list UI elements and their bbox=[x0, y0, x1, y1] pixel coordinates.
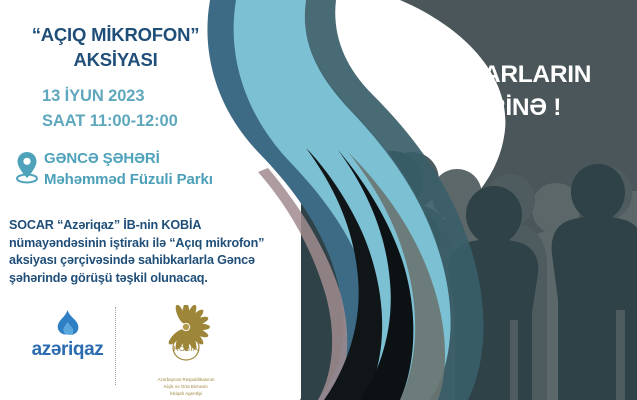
poster-canvas: “AÇIQ MİKROFON” AKSİYASI 13 İYUN 2023 SA… bbox=[0, 0, 637, 400]
poster-title: “AÇIQ MİKROFON” AKSİYASI bbox=[8, 22, 223, 72]
venue-text: GƏNCƏ ŞƏHƏRİ Məhəmməd Füzuli Parkı bbox=[44, 148, 213, 190]
event-datetime: 13 İYUN 2023 SAAT 11:00-12:00 bbox=[42, 84, 178, 134]
logo-divider bbox=[115, 307, 116, 385]
event-venue: GƏNCƏ ŞƏHƏRİ Məhəmməd Füzuli Parkı bbox=[14, 148, 213, 190]
headline-line-2: NƏZƏRİNƏ ! bbox=[357, 91, 625, 124]
logo-strip: azəriqaz bbox=[14, 305, 244, 393]
azeriqaz-logo: azəriqaz bbox=[20, 309, 115, 360]
left-content-column: “AÇIQ MİKROFON” AKSİYASI 13 İYUN 2023 SA… bbox=[0, 0, 330, 400]
title-line-1: “AÇIQ MİKROFON” bbox=[8, 22, 223, 47]
description-line-1: SOCAR “Azəriqaz” İB-nin KOBİA bbox=[9, 217, 241, 235]
event-date: 13 İYUN 2023 bbox=[42, 84, 178, 109]
event-time: SAAT 11:00-12:00 bbox=[42, 109, 178, 134]
description-line-2: nümayəndəsinin iştirakı ilə “Açıq mikrof… bbox=[9, 235, 241, 253]
description-line-3: aksiyası çərçivəsində sahibkarlarla Gənc… bbox=[9, 252, 241, 270]
kobia-caption-line-1: Azərbaycan Respublikasının bbox=[132, 377, 240, 383]
kobia-caption-line-2: Kiçik və Orta Biznesin bbox=[132, 384, 240, 390]
svg-text:KOBİA: KOBİA bbox=[174, 344, 199, 353]
title-line-2: AKSİYASI bbox=[8, 47, 223, 72]
venue-place: Məhəmməd Füzuli Parkı bbox=[44, 171, 213, 188]
venue-city: GƏNCƏ ŞƏHƏRİ bbox=[44, 150, 160, 167]
main-headline: SAHİBKARLARIN NƏZƏRİNƏ ! bbox=[357, 58, 625, 124]
kobia-logo: KOBİA Azərbaycan Respublikasının Kiçik v… bbox=[132, 305, 240, 397]
flower-icon: KOBİA bbox=[132, 305, 240, 371]
description-line-4: şəhərində görüşü təşkil olunacaq. bbox=[9, 270, 241, 288]
azeriqaz-wordmark: azəriqaz bbox=[20, 340, 115, 360]
headline-line-1: SAHİBKARLARIN bbox=[357, 58, 625, 91]
event-description: SOCAR “Azəriqaz” İB-nin KOBİA nümayəndəs… bbox=[9, 217, 241, 287]
flame-icon bbox=[20, 309, 115, 339]
map-pin-icon bbox=[14, 150, 40, 184]
kobia-caption-line-3: İnkişafı Agentliyi bbox=[132, 391, 240, 397]
